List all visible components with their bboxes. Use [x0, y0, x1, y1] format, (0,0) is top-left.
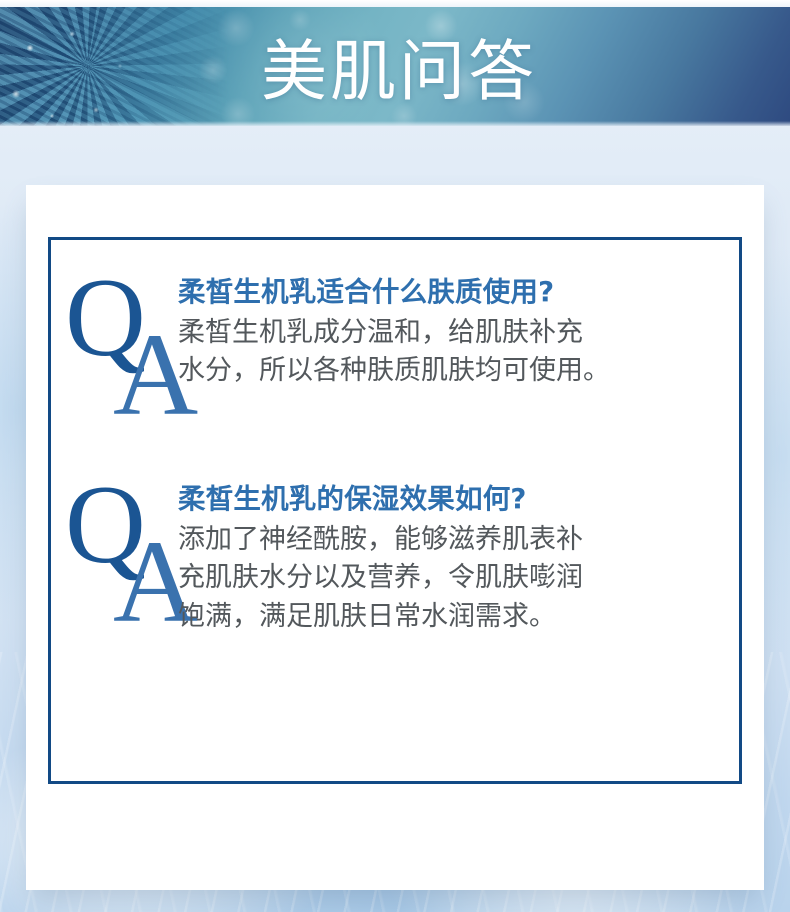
answer-line: 水分，所以各种肤质肌肤均可使用。	[178, 352, 734, 390]
answer-line: 柔皙生机乳成分温和，给肌肤补充	[178, 314, 734, 352]
answer-line: 添加了神经酰胺，能够滋养肌表补	[178, 521, 734, 559]
answer-text-1: 柔皙生机乳成分温和，给肌肤补充 水分，所以各种肤质肌肤均可使用。	[178, 314, 734, 391]
answer-text-2: 添加了神经酰胺，能够滋养肌表补 充肌肤水分以及营养，令肌肤嘭润 饱满，满足肌肤日…	[178, 521, 734, 636]
qa-monogram-icon: Q A	[65, 278, 193, 428]
top-strip	[0, 0, 790, 7]
question-text-2: 柔皙生机乳的保湿效果如何?	[178, 485, 734, 514]
question-text-1: 柔皙生机乳适合什么肤质使用?	[178, 278, 734, 307]
qa-text-2: 柔皙生机乳的保湿效果如何? 添加了神经酰胺，能够滋养肌表补 充肌肤水分以及营养，…	[178, 485, 734, 636]
answer-line: 饱满，满足肌肤日常水润需求。	[178, 598, 734, 636]
answer-line: 充肌肤水分以及营养，令肌肤嘭润	[178, 559, 734, 597]
letter-q-icon: Q	[65, 469, 146, 581]
page-root: 美肌问答 Q A 柔皙生机乳适合什么肤质使用? 柔皙生机乳成分温和，给肌肤补充 …	[0, 0, 790, 912]
header-banner: 美肌问答	[0, 6, 790, 126]
qa-frame: Q A 柔皙生机乳适合什么肤质使用? 柔皙生机乳成分温和，给肌肤补充 水分，所以…	[48, 237, 742, 784]
qa-text-1: 柔皙生机乳适合什么肤质使用? 柔皙生机乳成分温和，给肌肤补充 水分，所以各种肤质…	[178, 278, 734, 391]
page-title: 美肌问答	[0, 6, 790, 126]
qa-monogram-icon: Q A	[65, 485, 193, 635]
banner-bottom-fade	[0, 121, 790, 126]
letter-q-icon: Q	[65, 262, 146, 374]
